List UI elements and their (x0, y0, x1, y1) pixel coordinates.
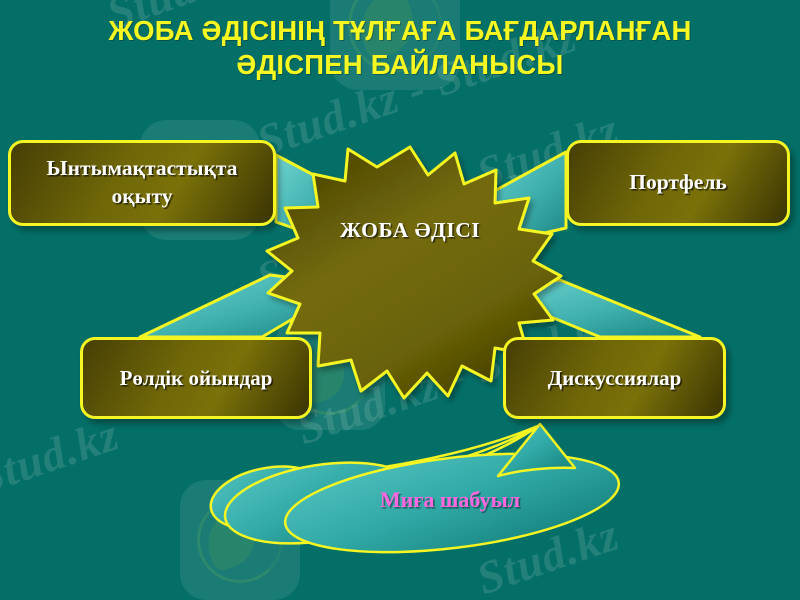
slide-title: ЖОБА ӘДІСІНІҢ ТҰЛҒАҒА БАҒДАРЛАНҒАН ӘДІСП… (0, 14, 800, 82)
node-box-cooperative-learning[interactable]: Ынтымақтастықта оқыту (8, 140, 276, 226)
node-label-portfolio: Портфель (621, 169, 735, 197)
slide-title-line-2: ӘДІСПЕН БАЙЛАНЫСЫ (0, 48, 800, 82)
slide-title-line-1: ЖОБА ӘДІСІНІҢ ТҰЛҒАҒА БАҒДАРЛАНҒАН (0, 14, 800, 48)
node-label-cooperative-learning: Ынтымақтастықта оқыту (11, 155, 273, 210)
node-box-portfolio[interactable]: Портфель (566, 140, 790, 226)
node-box-role-play[interactable]: Рөлдік ойындар (80, 337, 312, 419)
thought-cloud-label: Миға шабуыл (320, 487, 580, 513)
thought-cloud-tail (498, 424, 575, 476)
presentation-slide: ЖОБА ӘДІСІНІҢ ТҰЛҒАҒА БАҒДАРЛАНҒАН ӘДІСП… (0, 0, 800, 600)
node-label-role-play: Рөлдік ойындар (112, 365, 281, 392)
node-box-discussions[interactable]: Дискуссиялар (503, 337, 726, 419)
node-label-discussions: Дискуссиялар (540, 365, 690, 392)
center-node-label: ЖОБА ӘДІСІ (286, 218, 534, 243)
